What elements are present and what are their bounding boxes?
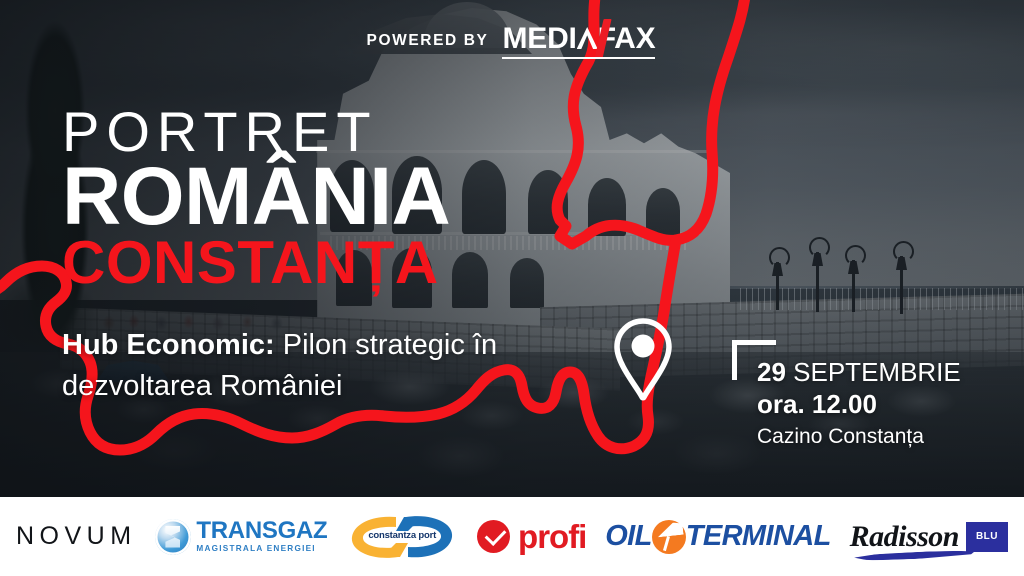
mediafax-wordmark: MEDI FAX <box>502 24 655 54</box>
radisson-blu-badge: BLU <box>966 522 1008 552</box>
constantza-port-logo: constantza port <box>346 511 458 563</box>
powered-by-label: POWERED BY <box>367 32 489 50</box>
oil-terminal-word2: TERMINAL <box>686 522 831 551</box>
novum-logo-text: NOVUM <box>16 522 137 551</box>
mediafax-prefix: MEDI <box>502 24 576 54</box>
sponsor-profi[interactable]: profi <box>477 497 586 576</box>
sponsor-oil-terminal[interactable]: OIL TERMINAL <box>605 497 831 576</box>
radisson-wordmark: Radisson <box>850 522 959 552</box>
title-block: PORTRET ROMÂNIA CONSTANȚA <box>62 104 450 293</box>
profi-logo: profi <box>477 520 586 553</box>
radisson-blu-text: BLU <box>976 531 998 542</box>
title-constanta: CONSTANȚA <box>62 233 450 293</box>
transgaz-tagline: MAGISTRALA ENERGIEI <box>196 545 327 553</box>
transgaz-logo: TRANSGAZ MAGISTRALA ENERGIEI <box>155 519 327 555</box>
mediafax-underline <box>502 57 655 60</box>
mediafax-logo: MEDI FAX <box>500 24 657 58</box>
sponsor-radisson-blu[interactable]: Radisson BLU <box>850 497 1008 576</box>
sponsor-constantza-port[interactable]: constantza port <box>346 497 458 576</box>
radisson-swoosh-icon <box>853 549 975 561</box>
location-pin-icon <box>611 317 675 401</box>
event-details: 29 SEPTEMBRIE ora. 12.00 Cazino Constanț… <box>757 358 961 450</box>
event-month: SEPTEMBRIE <box>793 357 961 387</box>
poster-content: POWERED BY MEDI FAX PORTRET ROMÂNIA CONS… <box>0 0 1024 497</box>
transgaz-text: TRANSGAZ MAGISTRALA ENERGIEI <box>196 519 327 553</box>
corner-bracket-icon <box>732 340 776 380</box>
profi-check-icon <box>477 520 510 553</box>
sponsor-novum[interactable]: NOVUM <box>16 497 137 576</box>
constantza-port-label: constantza port <box>358 530 446 541</box>
subtitle-bold: Hub Economic: <box>62 329 275 361</box>
sponsor-bar: NOVUM TRANSGAZ MAGISTRALA ENERGIEI const <box>0 497 1024 576</box>
event-time: ora. 12.00 <box>757 389 961 420</box>
event-poster: POWERED BY MEDI FAX PORTRET ROMÂNIA CONS… <box>0 0 1024 576</box>
transgaz-globe-icon <box>155 519 191 555</box>
transgaz-name: TRANSGAZ <box>196 519 327 543</box>
oil-terminal-word1: OIL <box>605 522 652 551</box>
profi-wordmark: profi <box>518 520 586 553</box>
oil-terminal-logo: OIL TERMINAL <box>605 520 831 554</box>
sponsor-transgaz[interactable]: TRANSGAZ MAGISTRALA ENERGIEI <box>155 497 327 576</box>
oil-terminal-circle-icon <box>652 520 686 554</box>
radisson-logo: Radisson BLU <box>850 522 1008 552</box>
event-venue: Cazino Constanța <box>757 424 961 450</box>
powered-by-block: POWERED BY MEDI FAX <box>0 24 1024 58</box>
event-date: 29 SEPTEMBRIE <box>757 358 961 387</box>
title-romania: ROMÂNIA <box>62 158 450 237</box>
subtitle: Hub Economic: Pilon strategic în dezvolt… <box>62 325 622 407</box>
mediafax-triangle-a-icon <box>577 27 598 49</box>
